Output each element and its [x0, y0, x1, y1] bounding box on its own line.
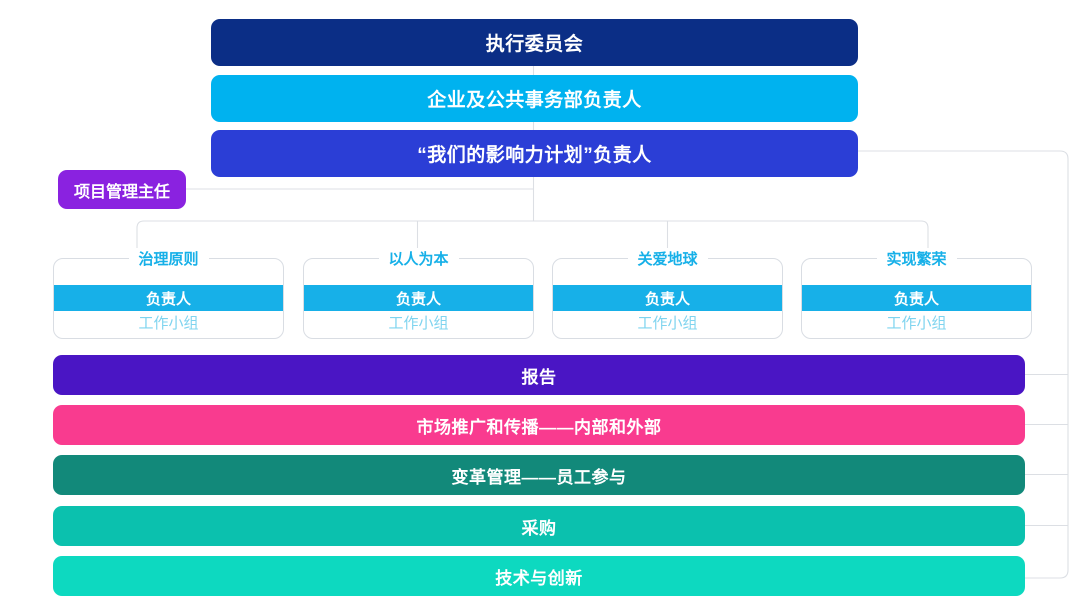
org-chart: 执行委员会 企业及公共事务部负责人 “我们的影响力计划”负责人 项目管理主任 治…	[0, 0, 1080, 613]
enabler-technology-innovation[interactable]: 技术与创新	[53, 556, 1025, 596]
pillar-title: 治理原则	[128, 248, 208, 269]
pillar-title: 以人为本	[378, 248, 458, 269]
pillar-group: 工作小组	[553, 310, 782, 334]
pillar-card-prosperity[interactable]: 实现繁荣 负责人 工作小组	[801, 258, 1032, 339]
pillar-group: 工作小组	[802, 310, 1031, 334]
pillar-title: 实现繁荣	[876, 248, 956, 269]
pillar-card-planet[interactable]: 关爱地球 负责人 工作小组	[552, 258, 783, 339]
node-impact-plan-head[interactable]: “我们的影响力计划”负责人	[211, 130, 858, 177]
node-label: 市场推广和传播——内部和外部	[417, 413, 662, 438]
node-label: 报告	[522, 363, 557, 388]
pillar-title: 关爱地球	[627, 248, 707, 269]
connector-bus	[137, 221, 928, 257]
node-executive-committee[interactable]: 执行委员会	[211, 19, 858, 66]
pillar-lead: 负责人	[802, 285, 1031, 311]
node-program-management-director[interactable]: 项目管理主任	[58, 170, 186, 209]
enabler-reporting[interactable]: 报告	[53, 355, 1025, 395]
enabler-marketing-communications[interactable]: 市场推广和传播——内部和外部	[53, 405, 1025, 445]
node-label: 技术与创新	[495, 564, 583, 589]
node-label: “我们的影响力计划”负责人	[417, 140, 652, 167]
pillar-card-governance[interactable]: 治理原则 负责人 工作小组	[53, 258, 284, 339]
node-corporate-public-affairs-head[interactable]: 企业及公共事务部负责人	[211, 75, 858, 122]
node-label: 项目管理主任	[74, 178, 170, 202]
node-label: 执行委员会	[486, 29, 584, 56]
pillar-card-people[interactable]: 以人为本 负责人 工作小组	[303, 258, 534, 339]
pillar-group: 工作小组	[54, 310, 283, 334]
node-label: 变革管理——员工参与	[452, 463, 627, 488]
node-label: 采购	[522, 514, 557, 539]
pillar-lead: 负责人	[553, 285, 782, 311]
enabler-procurement[interactable]: 采购	[53, 506, 1025, 546]
node-label: 企业及公共事务部负责人	[427, 85, 642, 112]
enabler-change-management[interactable]: 变革管理——员工参与	[53, 455, 1025, 495]
pillar-lead: 负责人	[304, 285, 533, 311]
pillar-lead: 负责人	[54, 285, 283, 311]
pillar-group: 工作小组	[304, 310, 533, 334]
